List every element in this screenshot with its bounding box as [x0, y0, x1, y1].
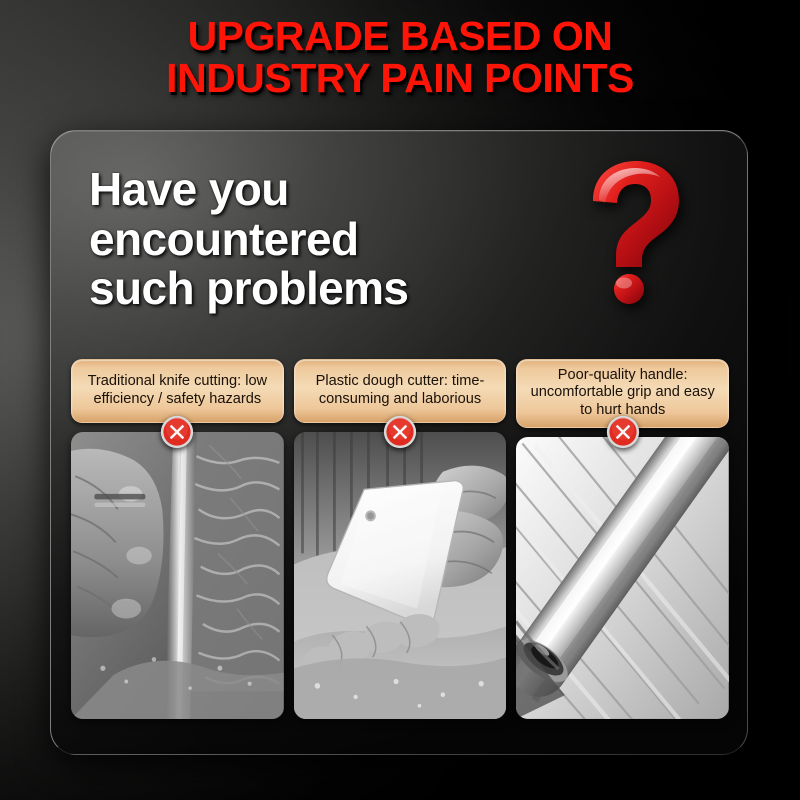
problem-panel-2: Plastic dough cutter: time-consuming and… — [294, 359, 507, 719]
x-mark-icon — [160, 415, 194, 449]
problem-panel-3: Poor-quality handle: uncomfortable grip … — [516, 359, 729, 719]
x-mark-icon — [606, 415, 640, 449]
card-heading-line-1: Have you — [89, 165, 519, 215]
panel-caption-2: Plastic dough cutter: time-consuming and… — [294, 359, 507, 423]
main-card: Have you encountered such problems — [50, 130, 748, 755]
panel-photo-3 — [516, 437, 729, 719]
page-headline: UPGRADE BASED ON INDUSTRY PAIN POINTS — [0, 16, 800, 100]
headline-line-1: UPGRADE BASED ON — [0, 16, 800, 58]
problem-panels: Traditional knife cutting: low efficienc… — [71, 359, 729, 719]
question-mark-icon — [575, 157, 695, 307]
panel-caption-1: Traditional knife cutting: low efficienc… — [71, 359, 284, 423]
card-heading-line-2: encountered — [89, 215, 519, 265]
card-heading: Have you encountered such problems — [89, 165, 519, 314]
problem-panel-1: Traditional knife cutting: low efficienc… — [71, 359, 284, 719]
card-heading-line-3: such problems — [89, 264, 519, 314]
panel-photo-1 — [71, 432, 284, 719]
x-mark-icon — [383, 415, 417, 449]
panel-photo-2 — [294, 432, 507, 719]
headline-line-2: INDUSTRY PAIN POINTS — [0, 58, 800, 100]
